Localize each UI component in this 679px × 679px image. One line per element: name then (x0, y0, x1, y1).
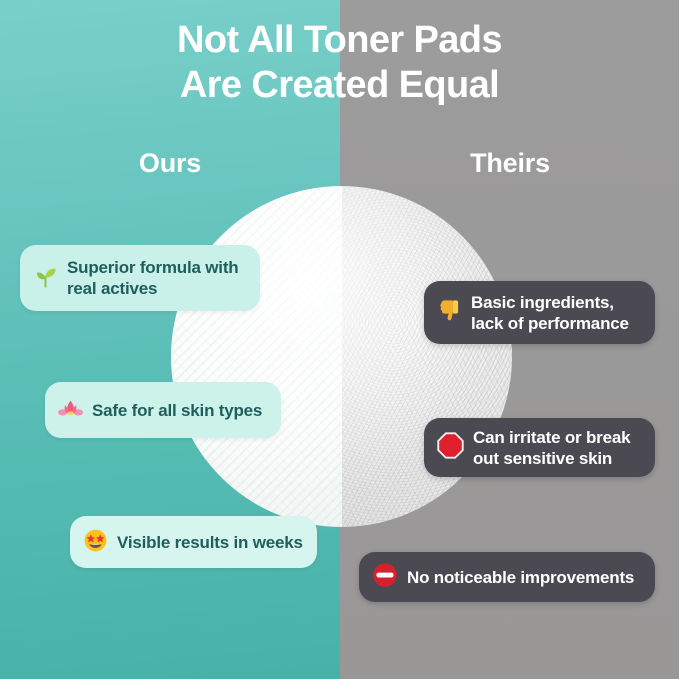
ours-benefit-label-3: Visible results in weeks (117, 532, 303, 553)
theirs-drawback-item-1: Basic ingredients, lack of performance (424, 281, 655, 344)
ours-benefit-item-1: Superior formula with real actives (20, 245, 260, 311)
star-struck-icon (83, 528, 108, 557)
no-entry-icon (372, 562, 398, 592)
ours-benefit-label-1: Superior formula with real actives (67, 257, 238, 299)
seedling-icon (33, 264, 58, 293)
theirs-drawback-label-1: Basic ingredients, lack of performance (471, 292, 629, 334)
theirs-drawback-item-2: Can irritate or break out sensitive skin (424, 418, 655, 477)
page-title: Not All Toner Pads Are Created Equal (0, 18, 679, 108)
ours-benefit-item-2: Safe for all skin types (45, 382, 281, 438)
cotton-pad-left-half (171, 186, 342, 527)
thumbs-down-icon (437, 298, 462, 327)
theirs-drawback-label-3: No noticeable improvements (407, 567, 634, 588)
theirs-drawback-label-2: Can irritate or break out sensitive skin (473, 427, 630, 469)
comparison-infographic: Not All Toner Pads Are Created Equal Our… (0, 0, 679, 679)
column-label-ours: Ours (100, 148, 240, 179)
theirs-drawback-item-3: No noticeable improvements (359, 552, 655, 602)
ours-benefit-item-3: Visible results in weeks (70, 516, 317, 568)
stop-sign-icon (437, 432, 464, 463)
ours-benefit-label-2: Safe for all skin types (92, 400, 262, 421)
column-label-theirs: Theirs (440, 148, 580, 179)
lotus-icon (58, 396, 83, 425)
